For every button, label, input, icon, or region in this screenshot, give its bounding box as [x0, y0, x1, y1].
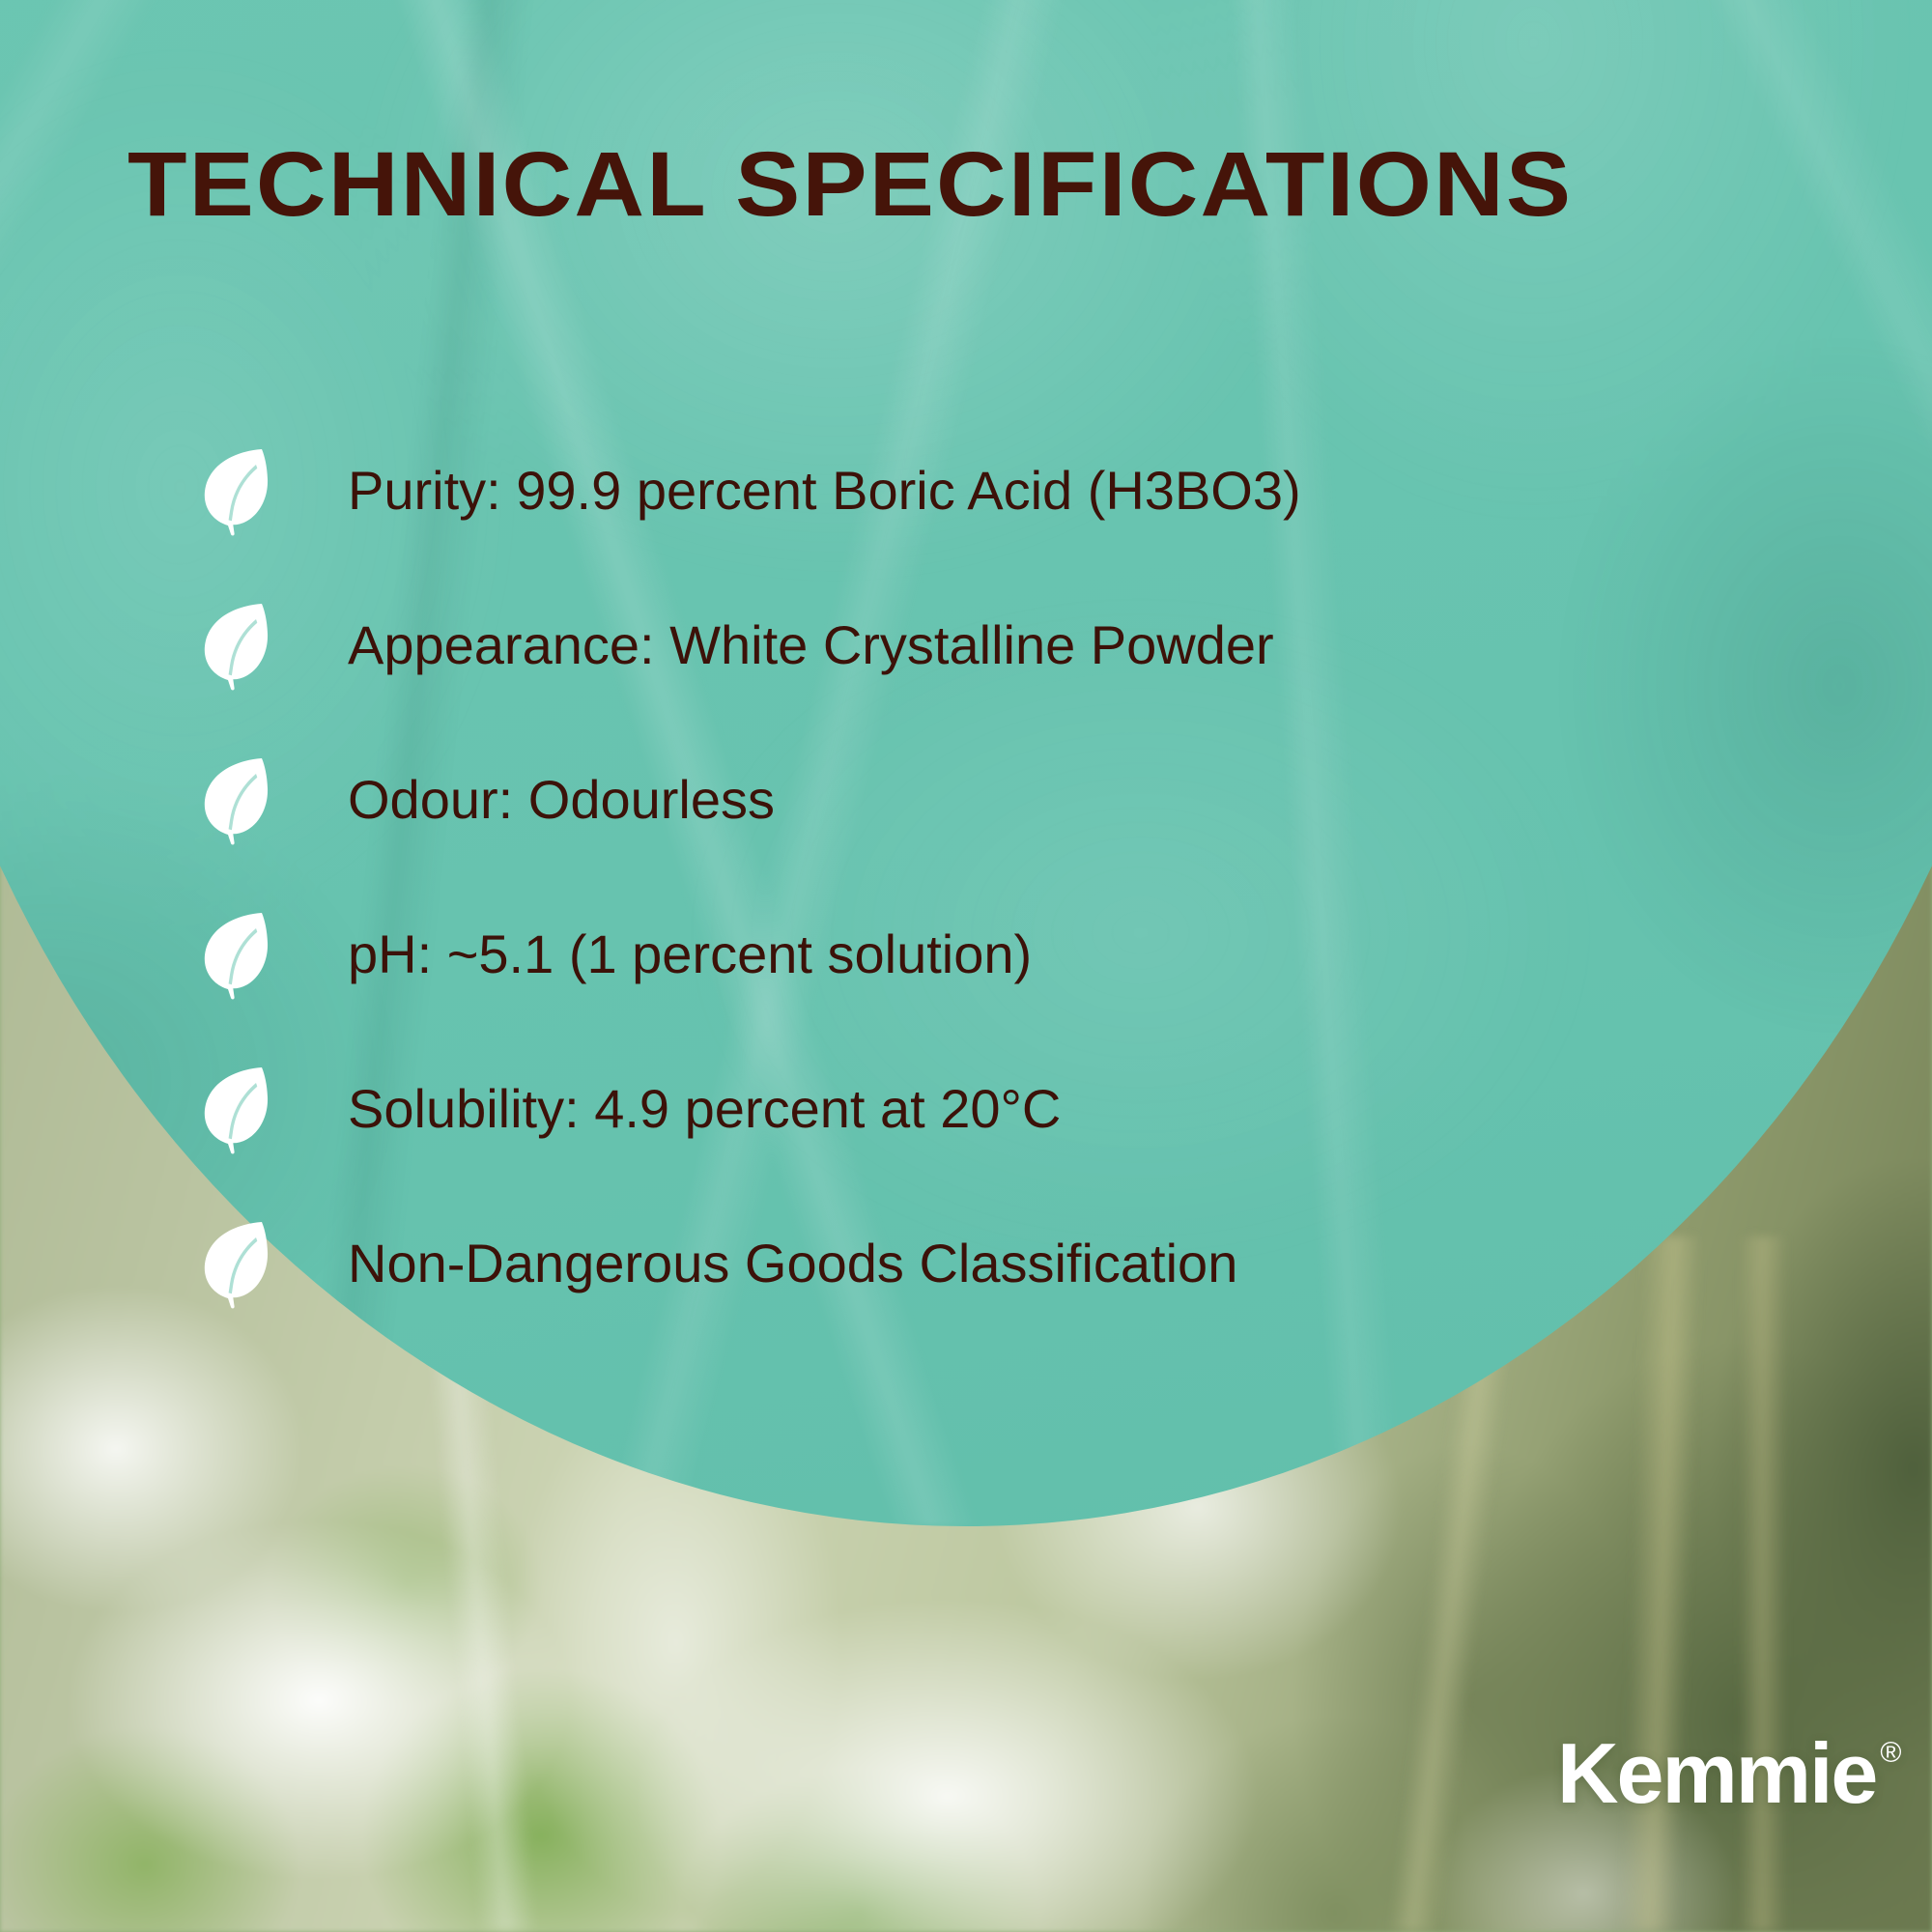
list-item-label: Purity: 99.9 percent Boric Acid (H3BO3) [348, 460, 1301, 522]
list-item: Odour: Odourless [0, 723, 1932, 877]
leaf-icon [198, 597, 273, 694]
leaf-icon [198, 1215, 273, 1312]
list-item: Purity: 99.9 percent Boric Acid (H3BO3) [0, 413, 1932, 568]
list-item: Appearance: White Crystalline Powder [0, 568, 1932, 723]
list-item-label: Solubility: 4.9 percent at 20°C [348, 1078, 1061, 1140]
leaf-icon [198, 1061, 273, 1157]
list-item-label: Appearance: White Crystalline Powder [348, 614, 1274, 676]
list-item: Solubility: 4.9 percent at 20°C [0, 1032, 1932, 1186]
leaf-icon [198, 442, 273, 539]
registered-trademark-icon: ® [1880, 1739, 1901, 1768]
leaf-icon [198, 752, 273, 848]
social-graphic-canvas: TECHNICAL SPECIFICATIONS Purity: 99.9 pe… [0, 0, 1932, 1932]
specifications-list: Purity: 99.9 percent Boric Acid (H3BO3) … [0, 413, 1932, 1341]
list-item-label: Odour: Odourless [348, 769, 775, 831]
list-item-label: pH: ~5.1 (1 percent solution) [348, 923, 1032, 985]
page-title: TECHNICAL SPECIFICATIONS [128, 139, 1573, 231]
brand-logo-text: Kemmie [1557, 1731, 1876, 1816]
leaf-icon [198, 906, 273, 1003]
content-layer: TECHNICAL SPECIFICATIONS Purity: 99.9 pe… [0, 0, 1932, 1932]
list-item: pH: ~5.1 (1 percent solution) [0, 877, 1932, 1032]
list-item-label: Non-Dangerous Goods Classification [348, 1233, 1237, 1294]
brand-logo: Kemmie ® [1557, 1731, 1901, 1816]
list-item: Non-Dangerous Goods Classification [0, 1186, 1932, 1341]
